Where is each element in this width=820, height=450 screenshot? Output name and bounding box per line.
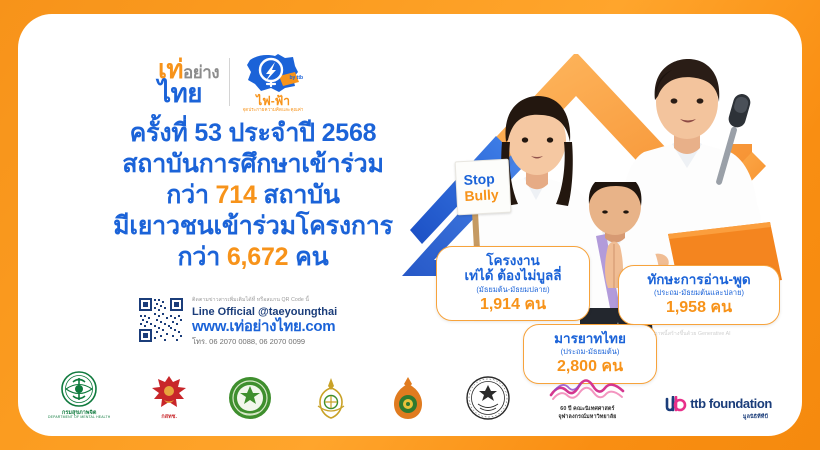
bubble-subtitle: (มัธยมต้น-มัธยมปลาย) — [447, 285, 579, 295]
poster-panel: Stop Bully เท่อย่าง ไทย — [18, 14, 802, 436]
logo-ttb-foundation: ttb foundation มูลนิธิทีทีบี — [665, 362, 772, 420]
logo-caption: กสทช. — [161, 414, 177, 420]
headline-line-5: กว่า 6,672 คน — [58, 242, 448, 273]
qr-code-icon[interactable] — [138, 297, 184, 343]
logo-ministry-of-education — [312, 362, 350, 420]
headline-line-3: กว่า 714 สถาบัน — [58, 180, 448, 211]
stat-bubble-speaking: ทักษะการอ่าน-พูด (ประถม-มัธยมต้นและปลาย)… — [618, 265, 780, 325]
logo-ministry-seal-green — [228, 362, 272, 420]
headline-line-1: ครั้งที่ 53 ประจำปี 2568 — [58, 118, 448, 149]
logo-caption-2: จุฬาลงกรณ์มหาวิทยาลัย — [558, 414, 616, 420]
headline-line-2: สถาบันการศึกษาเข้าร่วม — [58, 149, 448, 180]
brand-row: เท่อย่าง ไทย by ttb — [158, 52, 306, 113]
partner-logos-row: กรมสุขภาพจิต DEPARTMENT OF MENTAL HEALTH… — [48, 360, 772, 422]
bubble-title: ทักษะการอ่าน-พูด — [629, 272, 769, 287]
bubble-title: มารยาทไทย — [534, 331, 646, 346]
headline-line-5-pre: กว่า — [177, 243, 226, 271]
headline-line-3-post: สถาบัน — [257, 181, 340, 209]
bubble-subtitle: (ประถม-มัธยมต้นและปลาย) — [629, 288, 769, 298]
bubble-number: 1,958 คน — [629, 299, 769, 317]
bubble-title-2: เท่ได้ ต้องไม่บูลลี่ — [447, 268, 579, 283]
fifa-tagline: จุดประกายความคิดและคุณค่า — [240, 108, 306, 113]
qr-note: ติดตามข่าวสารเพิ่มเติมได้ที่ หรือสแกน QR… — [192, 298, 337, 304]
logo-nbtc-garuda: กสทช. — [150, 362, 188, 420]
logo-chula-communication-arts-60: 60 ปี คณะนิเทศศาสตร์ จุฬาลงกรณ์มหาวิทยาล… — [549, 362, 625, 420]
headline-line-4: มีเยาวชนเข้าร่วมโครงการ — [58, 211, 448, 242]
logo-royal-institute-seal — [466, 362, 510, 420]
bubble-number: 1,914 คน — [447, 296, 579, 314]
contact-info: ติดตามข่าวสารเพิ่มเติมได้ที่ หรือสแกน QR… — [192, 297, 337, 346]
logo-department-of-mental-health: กรมสุขภาพจิต DEPARTMENT OF MENTAL HEALTH — [48, 362, 110, 420]
fifa-name: ไฟ-ฟ้า — [240, 95, 306, 107]
headline-block: ครั้งที่ 53 ประจำปี 2568 สถาบันการศึกษาเ… — [58, 118, 448, 273]
taeyoungthai-logo: เท่อย่าง ไทย — [158, 58, 219, 106]
poster-frame: Stop Bully เท่อย่าง ไทย — [0, 0, 820, 450]
website-link[interactable]: www.เท่อย่างไทย.com — [192, 318, 337, 335]
headline-line-3-pre: กว่า — [166, 181, 215, 209]
contact-block: ติดตามข่าวสารเพิ่มเติมได้ที่ หรือสแกน QR… — [138, 297, 337, 346]
by-ttb-badge: by ttb — [289, 75, 303, 81]
stop-bully-sign: Stop Bully — [455, 159, 512, 216]
ttb-foundation-wordmark: ttb foundation — [690, 396, 772, 411]
sign-word-bully: Bully — [464, 187, 499, 203]
bubble-subtitle: (ประถม-มัธยมต้น) — [534, 347, 646, 357]
brand-divider — [229, 58, 230, 106]
bubble-title: โครงงาน — [447, 253, 579, 268]
headline-youth-count: 6,672 — [227, 243, 289, 271]
ai-generated-note: ภาพนี้สร้างขึ้นด้วย Generative AI — [654, 330, 731, 338]
lightbulb-pencil-icon: by ttb — [245, 52, 301, 94]
sign-word-stop: Stop — [463, 171, 495, 187]
logo-caption-en: DEPARTMENT OF MENTAL HEALTH — [48, 416, 110, 420]
stat-bubble-project: โครงงาน เท่ได้ ต้องไม่บูลลี่ (มัธยมต้น-ม… — [436, 246, 590, 321]
fifa-logo: by ttb ไฟ-ฟ้า จุดประกายความคิดและคุณค่า — [240, 52, 306, 113]
logo-word-thai: ไทย — [158, 78, 202, 108]
phone-numbers: โทร. 06 2070 0088, 06 2070 0099 — [192, 337, 337, 346]
headline-institutions-count: 714 — [216, 181, 257, 209]
logo-caption-th: มูลนิธิทีทีบี — [743, 414, 768, 420]
logo-ministry-of-culture — [390, 362, 426, 420]
line-official[interactable]: Line Official @taeyoungthai — [192, 306, 337, 319]
logo-caption: 60 ปี คณะนิเทศศาสตร์ — [560, 406, 614, 412]
headline-line-5-post: คน — [288, 243, 328, 271]
